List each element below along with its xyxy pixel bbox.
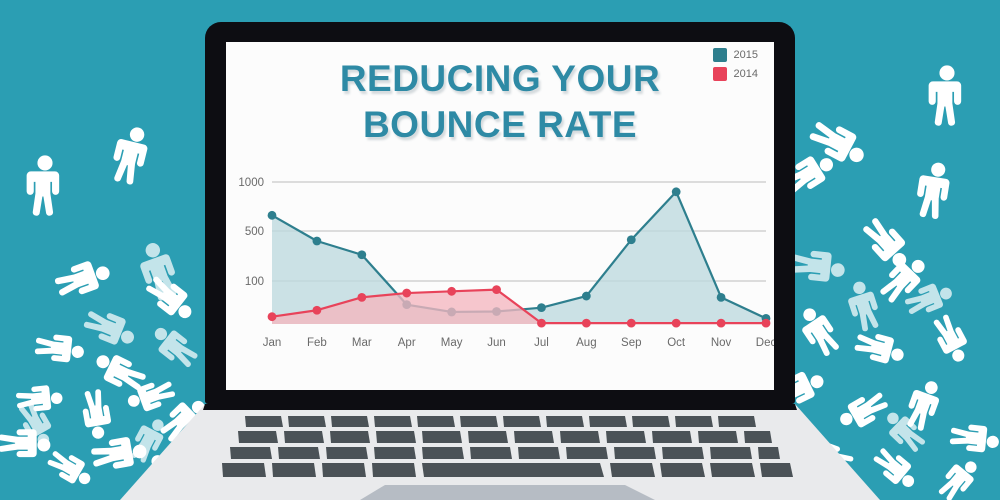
y-axis-tick-500: 500 — [245, 226, 264, 238]
legend-swatch-2015 — [713, 48, 727, 62]
point-2014-Feb[interactable] — [313, 306, 322, 315]
x-axis-tick-Aug: Aug — [576, 337, 596, 349]
point-2015-Nov[interactable] — [717, 293, 726, 302]
x-axis-tick-May: May — [441, 337, 463, 349]
legend-item-2014[interactable]: 2014 — [713, 67, 758, 81]
x-axis-tick-Sep: Sep — [621, 337, 641, 349]
area-chart-svg[interactable]: 1005001000JanFebMarAprMayJunJulAugSepOct… — [226, 170, 774, 370]
legend-label-2015: 2015 — [734, 49, 758, 61]
trackpad[interactable] — [360, 485, 655, 500]
point-2014-Sep[interactable] — [627, 319, 636, 328]
point-2014-May[interactable] — [447, 287, 456, 296]
point-2014-Nov[interactable] — [717, 319, 726, 328]
y-axis-tick-100: 100 — [245, 276, 264, 288]
laptop-lid: REDUCING YOUR BOUNCE RATE 2015 2014 1005… — [205, 22, 795, 404]
point-2015-Feb[interactable] — [313, 237, 322, 246]
point-2014-Jan[interactable] — [268, 312, 277, 321]
point-2015-Sep[interactable] — [627, 235, 636, 244]
legend-label-2014: 2014 — [734, 68, 758, 80]
y-axis-tick-1000: 1000 — [238, 177, 264, 189]
x-axis-tick-Jan: Jan — [263, 337, 282, 349]
x-axis-tick-Dec: Dec — [756, 337, 774, 349]
point-2015-Jan[interactable] — [268, 211, 277, 220]
x-axis-tick-Nov: Nov — [711, 337, 732, 349]
laptop-screen: REDUCING YOUR BOUNCE RATE 2015 2014 1005… — [226, 42, 774, 390]
poster-scene: REDUCING YOUR BOUNCE RATE 2015 2014 1005… — [0, 0, 1000, 500]
point-2015-Oct[interactable] — [672, 187, 681, 196]
point-2014-Jul[interactable] — [537, 319, 546, 328]
chart-legend: 2015 2014 — [713, 48, 758, 81]
x-axis-tick-Apr: Apr — [398, 337, 416, 349]
laptop-illustration: REDUCING YOUR BOUNCE RATE 2015 2014 1005… — [0, 0, 1000, 500]
title-line-2: BOUNCE RATE — [226, 102, 774, 148]
point-2015-Mar[interactable] — [357, 250, 366, 259]
point-2015-Aug[interactable] — [582, 292, 591, 301]
point-2014-Dec[interactable] — [762, 319, 771, 328]
title-line-1: REDUCING YOUR — [226, 56, 774, 102]
page-title: REDUCING YOUR BOUNCE RATE — [226, 56, 774, 148]
point-2014-Mar[interactable] — [357, 293, 366, 302]
legend-item-2015[interactable]: 2015 — [713, 48, 758, 62]
x-axis-tick-Mar: Mar — [352, 337, 372, 349]
laptop-hinge — [203, 404, 797, 410]
point-2015-Jul[interactable] — [537, 303, 546, 312]
legend-swatch-2014 — [713, 67, 727, 81]
point-2014-Jun[interactable] — [492, 285, 501, 294]
x-axis-tick-Jun: Jun — [487, 337, 506, 349]
x-axis-tick-Jul: Jul — [534, 337, 549, 349]
point-2014-Apr[interactable] — [402, 289, 411, 298]
chart-plot-area: 1005001000JanFebMarAprMayJunJulAugSepOct… — [226, 170, 774, 370]
x-axis-tick-Oct: Oct — [667, 337, 686, 349]
x-axis-tick-Feb: Feb — [307, 337, 327, 349]
point-2014-Aug[interactable] — [582, 319, 591, 328]
point-2014-Oct[interactable] — [672, 319, 681, 328]
